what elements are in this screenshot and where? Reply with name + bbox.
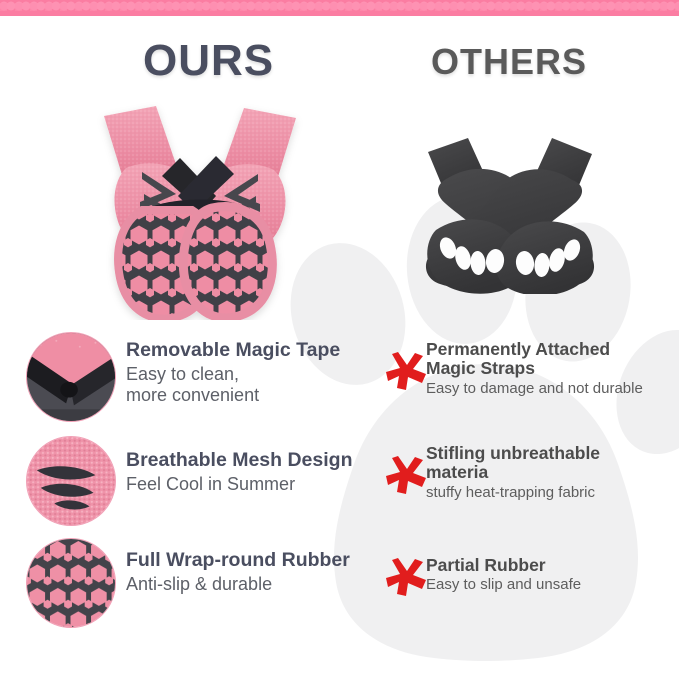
red-x-icon [386,352,426,390]
ours-subtitle-line-1: Anti-slip & durable [126,574,384,595]
infographic-page: OURS OTHERS [0,0,679,679]
feature-row: Full Wrap-round Rubber Anti-slip & durab… [0,534,679,634]
others-feature-text: Permanently Attached Magic Straps Easy t… [426,340,676,397]
others-feature-title: Partial Rubber [426,556,676,575]
ours-feature-text: Removable Magic Tape Easy to clean, more… [126,340,384,406]
heading-ours: OURS [143,36,274,86]
others-title-line-2: materia [426,463,676,482]
ours-feature-subtitle: Easy to clean, more convenient [126,364,384,406]
others-feature-text: Stifling unbreathable materia stuffy hea… [426,444,676,501]
others-feature-subtitle: Easy to damage and not durable [426,380,676,397]
others-feature-subtitle: stuffy heat-trapping fabric [426,484,676,501]
top-pink-banner [0,0,679,16]
heading-others: OTHERS [431,41,587,83]
ours-subtitle-line-1: Feel Cool in Summer [126,474,384,495]
ours-feature-title: Full Wrap-round Rubber [126,550,384,572]
ours-feature-text: Full Wrap-round Rubber Anti-slip & durab… [126,550,384,595]
others-feature-title: Permanently Attached Magic Straps [426,340,676,379]
red-x-icon [386,456,426,494]
others-feature-1: Stifling unbreathable materia stuffy hea… [386,432,676,532]
ours-product-photo [84,98,316,320]
others-feature-subtitle: Easy to slip and unsafe [426,576,676,593]
others-feature-0: Permanently Attached Magic Straps Easy t… [386,328,676,428]
ours-feature-subtitle: Anti-slip & durable [126,574,384,595]
ours-feature-subtitle: Feel Cool in Summer [126,474,384,495]
magic-tape-closeup-thumbnail [26,332,116,422]
ours-feature-title: Removable Magic Tape [126,340,384,362]
ours-subtitle-line-2: more convenient [126,385,384,406]
ours-feature-title: Breathable Mesh Design [126,450,384,472]
red-x-icon [386,558,426,596]
others-feature-title: Stifling unbreathable materia [426,444,676,483]
ours-feature-0: Removable Magic Tape Easy to clean, more… [26,328,381,428]
honeycomb-rubber-closeup-thumbnail [26,538,116,628]
others-title-line-1: Partial Rubber [426,556,676,575]
others-title-line-1: Stifling unbreathable [426,444,676,463]
mesh-knit-closeup-thumbnail [26,436,116,526]
feature-row: Breathable Mesh Design Feel Cool in Summ… [0,432,679,532]
others-title-line-1: Permanently Attached [426,340,676,359]
ours-subtitle-line-1: Easy to clean, [126,364,384,385]
heart-pattern [0,0,679,11]
ours-feature-2: Full Wrap-round Rubber Anti-slip & durab… [26,534,381,634]
ours-feature-1: Breathable Mesh Design Feel Cool in Summ… [26,432,381,532]
others-title-line-2: Magic Straps [426,359,676,378]
others-product-photo [420,126,600,294]
ours-feature-text: Breathable Mesh Design Feel Cool in Summ… [126,450,384,495]
others-feature-2: Partial Rubber Easy to slip and unsafe [386,534,676,634]
others-feature-text: Partial Rubber Easy to slip and unsafe [426,556,676,594]
feature-row: Removable Magic Tape Easy to clean, more… [0,328,679,428]
